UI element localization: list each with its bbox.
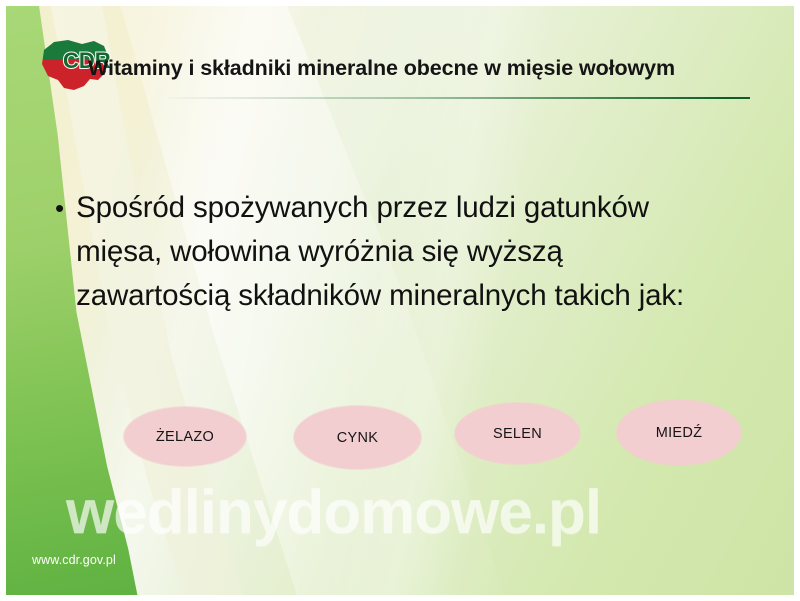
bullet-marker: • (55, 186, 64, 230)
mineral-ellipse-cynk: CYNK (294, 406, 421, 469)
mineral-ellipse-selen: SELEN (455, 403, 580, 464)
presentation-slide: CDR Witaminy i składniki mineralne obecn… (0, 0, 800, 601)
slide-body: • Spośród spożywanych przez ludzi gatunk… (55, 186, 725, 318)
slide-title: Witaminy i składniki mineralne obecne w … (88, 57, 748, 81)
footer-url: www.cdr.gov.pl (32, 553, 116, 567)
mineral-label: SELEN (493, 426, 542, 442)
title-underline (168, 97, 750, 99)
mineral-label: MIEDŹ (656, 425, 703, 441)
mineral-ellipse-miedz: MIEDŹ (617, 400, 741, 465)
mineral-label: ŻELAZO (156, 429, 214, 445)
bullet-item: • Spośród spożywanych przez ludzi gatunk… (55, 186, 725, 318)
mineral-ellipse-zelazo: ŻELAZO (124, 407, 246, 466)
bullet-text: Spośród spożywanych przez ludzi gatunków… (76, 186, 701, 318)
mineral-label: CYNK (337, 430, 379, 446)
